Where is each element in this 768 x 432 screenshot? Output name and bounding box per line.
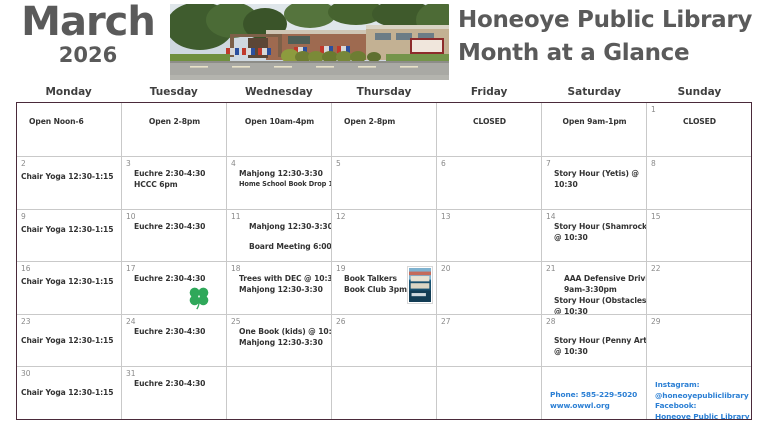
date-number	[441, 369, 538, 378]
calendar-event[interactable]: Trees with DEC @ 10:30	[239, 273, 328, 284]
calendar-cell-day-27[interactable]: 27	[437, 315, 542, 367]
calendar-event[interactable]: Chair Yoga 12:30-1:15	[21, 387, 118, 398]
calendar-event[interactable]: Euchre 2:30-4:30	[134, 221, 223, 232]
calendar-cell-day-23[interactable]: 23Chair Yoga 12:30-1:15	[17, 315, 122, 367]
date-number: 29	[651, 317, 748, 326]
calendar-week-row: 23Chair Yoga 12:30-1:1524Euchre 2:30-4:3…	[17, 315, 751, 368]
date-number	[651, 369, 748, 378]
dayname-thursday: Thursday	[331, 85, 436, 101]
calendar-cell-day-13[interactable]: 13	[437, 210, 542, 262]
date-number: 16	[21, 264, 118, 273]
calendar-week-row: 2Chair Yoga 12:30-1:153Euchre 2:30-4:30H…	[17, 157, 751, 210]
page-header: March 2026	[0, 0, 768, 85]
calendar-event[interactable]: Euchre 2:30-4:30	[134, 168, 223, 179]
hours-text: CLOSED	[441, 117, 538, 126]
month-name: March	[8, 0, 168, 44]
dayname-friday: Friday	[437, 85, 542, 101]
calendar-cell-day-15[interactable]: 15	[647, 210, 751, 262]
date-number: 14	[546, 212, 643, 221]
calendar-week-hours: Open Noon-6 Open 2-8pm Open 10am-4pm Ope…	[17, 103, 751, 157]
calendar-event[interactable]: 10:30	[554, 179, 643, 190]
calendar-cell-day-9[interactable]: 9Chair Yoga 12:30-1:15	[17, 210, 122, 262]
calendar-event[interactable]: One Book (kids) @ 10:30	[239, 326, 328, 337]
contact-social-block: Instagram:@honeoyepubliclibraryFacebook:…	[655, 380, 748, 419]
calendar-event[interactable]: Home School Book Drop 10:30	[239, 179, 328, 189]
calendar-cell-day-1[interactable]: 1 CLOSED	[647, 103, 751, 156]
calendar-cell-day-28[interactable]: 28Story Hour (Penny Art)@ 10:30	[542, 315, 647, 367]
month-year-block: March 2026	[8, 0, 168, 66]
date-number: 17	[126, 264, 223, 273]
date-number: 15	[651, 212, 748, 221]
calendar-week-row: 9Chair Yoga 12:30-1:1510Euchre 2:30-4:30…	[17, 210, 751, 263]
date-number: 11	[231, 212, 328, 221]
calendar-cell-day-11[interactable]: 11Mahjong 12:30-3:30Board Meeting 6:00 p…	[227, 210, 332, 262]
calendar-cell-empty[interactable]	[332, 367, 437, 419]
calendar-cell-day-4[interactable]: 4Mahjong 12:30-3:30Home School Book Drop…	[227, 157, 332, 209]
calendar-event[interactable]: Euchre 2:30-4:30	[134, 326, 223, 337]
calendar-cell-hours-friday[interactable]: CLOSED	[437, 103, 542, 156]
calendar-cell-day-10[interactable]: 10Euchre 2:30-4:30	[122, 210, 227, 262]
date-number	[336, 369, 433, 378]
date-number: 8	[651, 159, 748, 168]
book-cover-thumbnail	[407, 266, 433, 304]
date-number: 2	[21, 159, 118, 168]
calendar-event[interactable]: Board Meeting 6:00 pm	[249, 241, 328, 252]
date-number: 30	[21, 369, 118, 378]
date-number: 23	[21, 317, 118, 326]
calendar-cell-hours-tuesday[interactable]: Open 2-8pm	[122, 103, 227, 156]
hours-text: Open Noon-6	[29, 117, 118, 126]
calendar-event[interactable]: Mahjong 12:30-3:30	[249, 221, 328, 232]
calendar-cell-hours-wednesday[interactable]: Open 10am-4pm	[227, 103, 332, 156]
calendar-cell-day-16[interactable]: 16Chair Yoga 12:30-1:15	[17, 262, 122, 314]
calendar-grid: Open Noon-6 Open 2-8pm Open 10am-4pm Ope…	[16, 102, 752, 420]
library-title-block: Honeoye Public Library Month at a Glance	[458, 4, 766, 70]
calendar-cell-day-21[interactable]: 21AAA Defensive Driving9am-3:30pmStory H…	[542, 262, 647, 314]
dayname-tuesday: Tuesday	[121, 85, 226, 101]
date-number	[231, 369, 328, 378]
dayname-sunday: Sunday	[647, 85, 752, 101]
calendar-cell-hours-monday[interactable]: Open Noon-6	[17, 103, 122, 156]
calendar-cell-day-3[interactable]: 3Euchre 2:30-4:30HCCC 6pm	[122, 157, 227, 209]
dayname-monday: Monday	[16, 85, 121, 101]
calendar-event[interactable]: Mahjong 12:30-3:30	[239, 284, 328, 295]
hours-text: Open 9am-1pm	[546, 117, 643, 126]
date-number: 12	[336, 212, 433, 221]
calendar-event[interactable]: Chair Yoga 12:30-1:15	[21, 276, 118, 287]
date-number: 5	[336, 159, 433, 168]
shamrock-icon	[186, 284, 212, 310]
date-number: 7	[546, 159, 643, 168]
calendar-event[interactable]: Story Hour (Obstacles)	[554, 295, 643, 306]
calendar-event[interactable]: @ 10:30	[554, 232, 643, 243]
calendar-cell-empty[interactable]: Phone: 585-229-5020www.owwl.org	[542, 367, 647, 419]
contact-phone-block: Phone: 585-229-5020www.owwl.org	[550, 390, 643, 411]
date-number: 4	[231, 159, 328, 168]
calendar-cell-day-17[interactable]: 17Euchre 2:30-4:30	[122, 262, 227, 314]
calendar-event[interactable]: Chair Yoga 12:30-1:15	[21, 224, 118, 235]
facebook-page-name[interactable]: Honeoye Public Library	[655, 412, 748, 419]
date-number: 20	[441, 264, 538, 273]
instagram-handle[interactable]: @honeoyepubliclibrary	[655, 391, 748, 402]
calendar-cell-empty[interactable]: Instagram:@honeoyepubliclibraryFacebook:…	[647, 367, 751, 419]
date-number: 3	[126, 159, 223, 168]
date-number: 6	[441, 159, 538, 168]
date-number: 13	[441, 212, 538, 221]
hours-text: Open 2-8pm	[344, 117, 433, 126]
date-number: 22	[651, 264, 748, 273]
calendar-cell-empty[interactable]	[437, 367, 542, 419]
instagram-label[interactable]: Instagram:	[655, 380, 748, 391]
date-number: 9	[21, 212, 118, 221]
calendar-cell-hours-thursday[interactable]: Open 2-8pm	[332, 103, 437, 156]
website-link[interactable]: www.owwl.org	[550, 401, 643, 412]
calendar-event[interactable]: Chair Yoga 12:30-1:15	[21, 335, 118, 346]
hours-text: Open 10am-4pm	[231, 117, 328, 126]
calendar-cell-day-30[interactable]: 30Chair Yoga 12:30-1:15	[17, 367, 122, 419]
date-number: 26	[336, 317, 433, 326]
calendar-cell-day-14[interactable]: 14Story Hour (Shamrocks)@ 10:30	[542, 210, 647, 262]
date-number: 24	[126, 317, 223, 326]
calendar-cell-day-25[interactable]: 25One Book (kids) @ 10:30Mahjong 12:30-3…	[227, 315, 332, 367]
calendar-cell-day-8[interactable]: 8	[647, 157, 751, 209]
calendar-event[interactable]: @ 10:30	[554, 346, 643, 357]
calendar-weeks: 2Chair Yoga 12:30-1:153Euchre 2:30-4:30H…	[17, 157, 751, 419]
calendar-cell-day-7[interactable]: 7Story Hour (Yetis) @10:30	[542, 157, 647, 209]
calendar-event[interactable]: Euchre 2:30-4:30	[134, 378, 223, 389]
calendar-cell-day-2[interactable]: 2Chair Yoga 12:30-1:15	[17, 157, 122, 209]
calendar-event[interactable]: Story Hour (Yetis) @	[554, 168, 643, 179]
day-name-row: Monday Tuesday Wednesday Thursday Friday…	[16, 85, 752, 101]
calendar-cell-day-6[interactable]: 6	[437, 157, 542, 209]
facebook-label[interactable]: Facebook:	[655, 401, 748, 412]
calendar-cell-day-19[interactable]: 19Book TalkersBook Club 3pm	[332, 262, 437, 314]
calendar-cell-day-26[interactable]: 26	[332, 315, 437, 367]
date-number: 10	[126, 212, 223, 221]
date-number: 28	[546, 317, 643, 326]
calendar-event[interactable]: Story Hour (Shamrocks)	[554, 221, 643, 232]
calendar-cell-day-12[interactable]: 12	[332, 210, 437, 262]
calendar-event[interactable]: @ 10:30	[554, 306, 643, 314]
date-number: 21	[546, 264, 643, 273]
calendar-cell-day-5[interactable]: 5	[332, 157, 437, 209]
library-name: Honeoye Public Library	[458, 4, 766, 37]
calendar-event[interactable]: Euchre 2:30-4:30	[134, 273, 223, 284]
date-number: 1	[651, 105, 748, 114]
calendar-week-row: 30Chair Yoga 12:30-1:1531Euchre 2:30-4:3…	[17, 367, 751, 419]
calendar-cell-day-31[interactable]: 31Euchre 2:30-4:30	[122, 367, 227, 419]
date-number: 18	[231, 264, 328, 273]
dayname-saturday: Saturday	[542, 85, 647, 101]
date-number	[546, 369, 643, 378]
calendar-cell-day-20[interactable]: 20	[437, 262, 542, 314]
date-number: 25	[231, 317, 328, 326]
calendar-cell-hours-saturday[interactable]: Open 9am-1pm	[542, 103, 647, 156]
calendar-cell-day-18[interactable]: 18Trees with DEC @ 10:30Mahjong 12:30-3:…	[227, 262, 332, 314]
calendar-cell-day-29[interactable]: 29	[647, 315, 751, 367]
calendar-event[interactable]: Mahjong 12:30-3:30	[239, 168, 328, 179]
calendar-event[interactable]: AAA Defensive Driving	[564, 273, 643, 284]
year-label: 2026	[8, 44, 168, 66]
library-building-photo	[170, 4, 449, 80]
calendar-event[interactable]: Story Hour (Penny Art)	[554, 335, 643, 346]
calendar-event[interactable]: 9am-3:30pm	[564, 284, 643, 295]
calendar-cell-empty[interactable]	[227, 367, 332, 419]
subtitle-month-at-a-glance: Month at a Glance	[458, 37, 766, 70]
phone-number[interactable]: Phone: 585-229-5020	[550, 390, 643, 401]
calendar-cell-day-22[interactable]: 22	[647, 262, 751, 314]
hours-text: CLOSED	[651, 117, 748, 126]
dayname-wednesday: Wednesday	[226, 85, 331, 101]
date-number: 27	[441, 317, 538, 326]
calendar-event[interactable]: Chair Yoga 12:30-1:15	[21, 171, 118, 182]
calendar-week-row: 16Chair Yoga 12:30-1:1517Euchre 2:30-4:3…	[17, 262, 751, 315]
calendar-event[interactable]: Mahjong 12:30-3:30	[239, 337, 328, 348]
date-number: 31	[126, 369, 223, 378]
hours-text: Open 2-8pm	[126, 117, 223, 126]
calendar-cell-day-24[interactable]: 24Euchre 2:30-4:30	[122, 315, 227, 367]
calendar-event[interactable]: HCCC 6pm	[134, 179, 223, 190]
